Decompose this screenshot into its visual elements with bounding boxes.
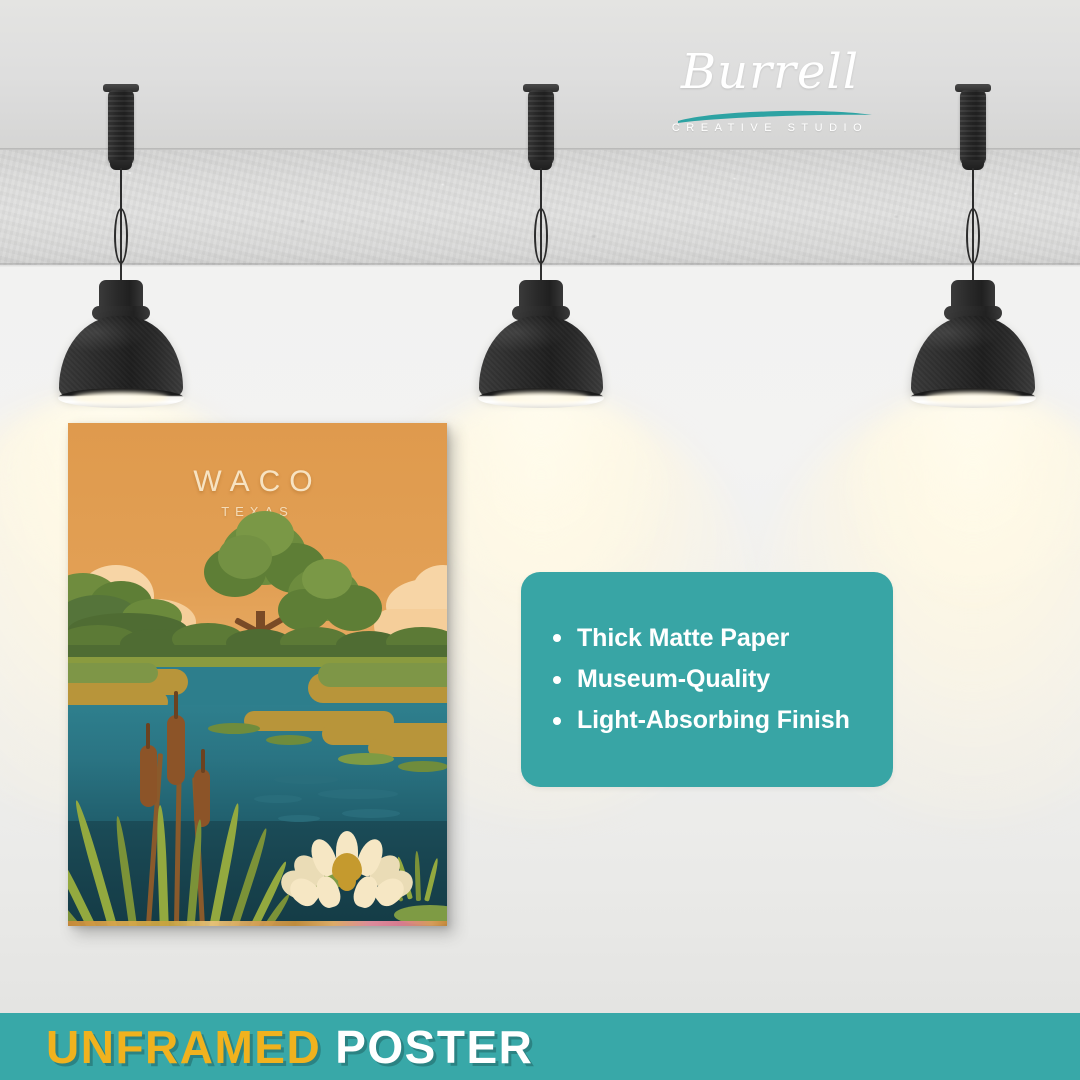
logo-brand-text: Burrell [640,44,900,100]
poster-title: WACO [68,465,447,499]
poster-artwork[interactable]: WACO TEXAS [68,423,447,926]
lily-pad [338,753,394,765]
bullet-icon [553,717,561,725]
lily-core-tip [338,871,356,891]
poster-illustration: WACO TEXAS [68,423,447,926]
tree-canopy [302,559,352,599]
feature-label: Museum-Quality [577,659,770,700]
water-ripple [342,809,400,818]
grass-bank [318,663,447,687]
bullet-icon [553,634,561,642]
room-mockup-scene: Burrell CREATIVE STUDIO [0,0,1080,1080]
banner-word-poster: POSTER [335,1021,533,1073]
cattail-tip [174,691,178,719]
bullet-icon [553,676,561,684]
banner-text: UNFRAMEDPOSTER [46,1020,533,1074]
lamp-bulb-glow [925,392,1021,404]
cattail-tip [146,723,150,749]
grass-bank [68,663,158,683]
list-item: Thick Matte Paper [553,618,893,659]
logo-tagline: CREATIVE STUDIO [640,122,900,134]
lamp-mount-tube [528,90,554,166]
cattail-head [194,769,210,827]
list-item: Museum-Quality [553,659,893,700]
brand-logo: Burrell CREATIVE STUDIO [640,42,900,152]
lily-pad [266,735,312,745]
lily-pad [208,723,260,734]
tree-canopy [218,535,272,579]
lamp-mount-tube [960,90,986,166]
list-item: Light-Absorbing Finish [553,700,893,741]
cattail-tip [201,749,205,773]
water-ripple [254,795,302,803]
lamp-cord-loop [966,208,980,264]
features-callout-box: Thick Matte Paper Museum-Quality Light-A… [521,572,893,787]
lily-pad [398,761,447,772]
lamp-mount-tube [108,90,134,166]
water-ripple [274,775,338,784]
lamp-bulb-glow [493,392,589,404]
water-ripple [278,815,320,822]
poster-paper-edge [68,921,447,926]
lamp-bulb-glow [73,392,169,404]
water-ripple [318,789,398,799]
cattail-head [167,715,185,785]
feature-label: Thick Matte Paper [577,618,789,659]
feature-list: Thick Matte Paper Museum-Quality Light-A… [553,618,893,742]
banner-word-unframed: UNFRAMED [46,1021,321,1073]
lamp-cord-loop [114,208,128,264]
bottom-banner: UNFRAMEDPOSTER [0,1013,1080,1080]
cattail-head [140,745,157,807]
feature-label: Light-Absorbing Finish [577,700,850,741]
water-lily-flower [290,827,404,911]
lamp-cord-loop [534,208,548,264]
